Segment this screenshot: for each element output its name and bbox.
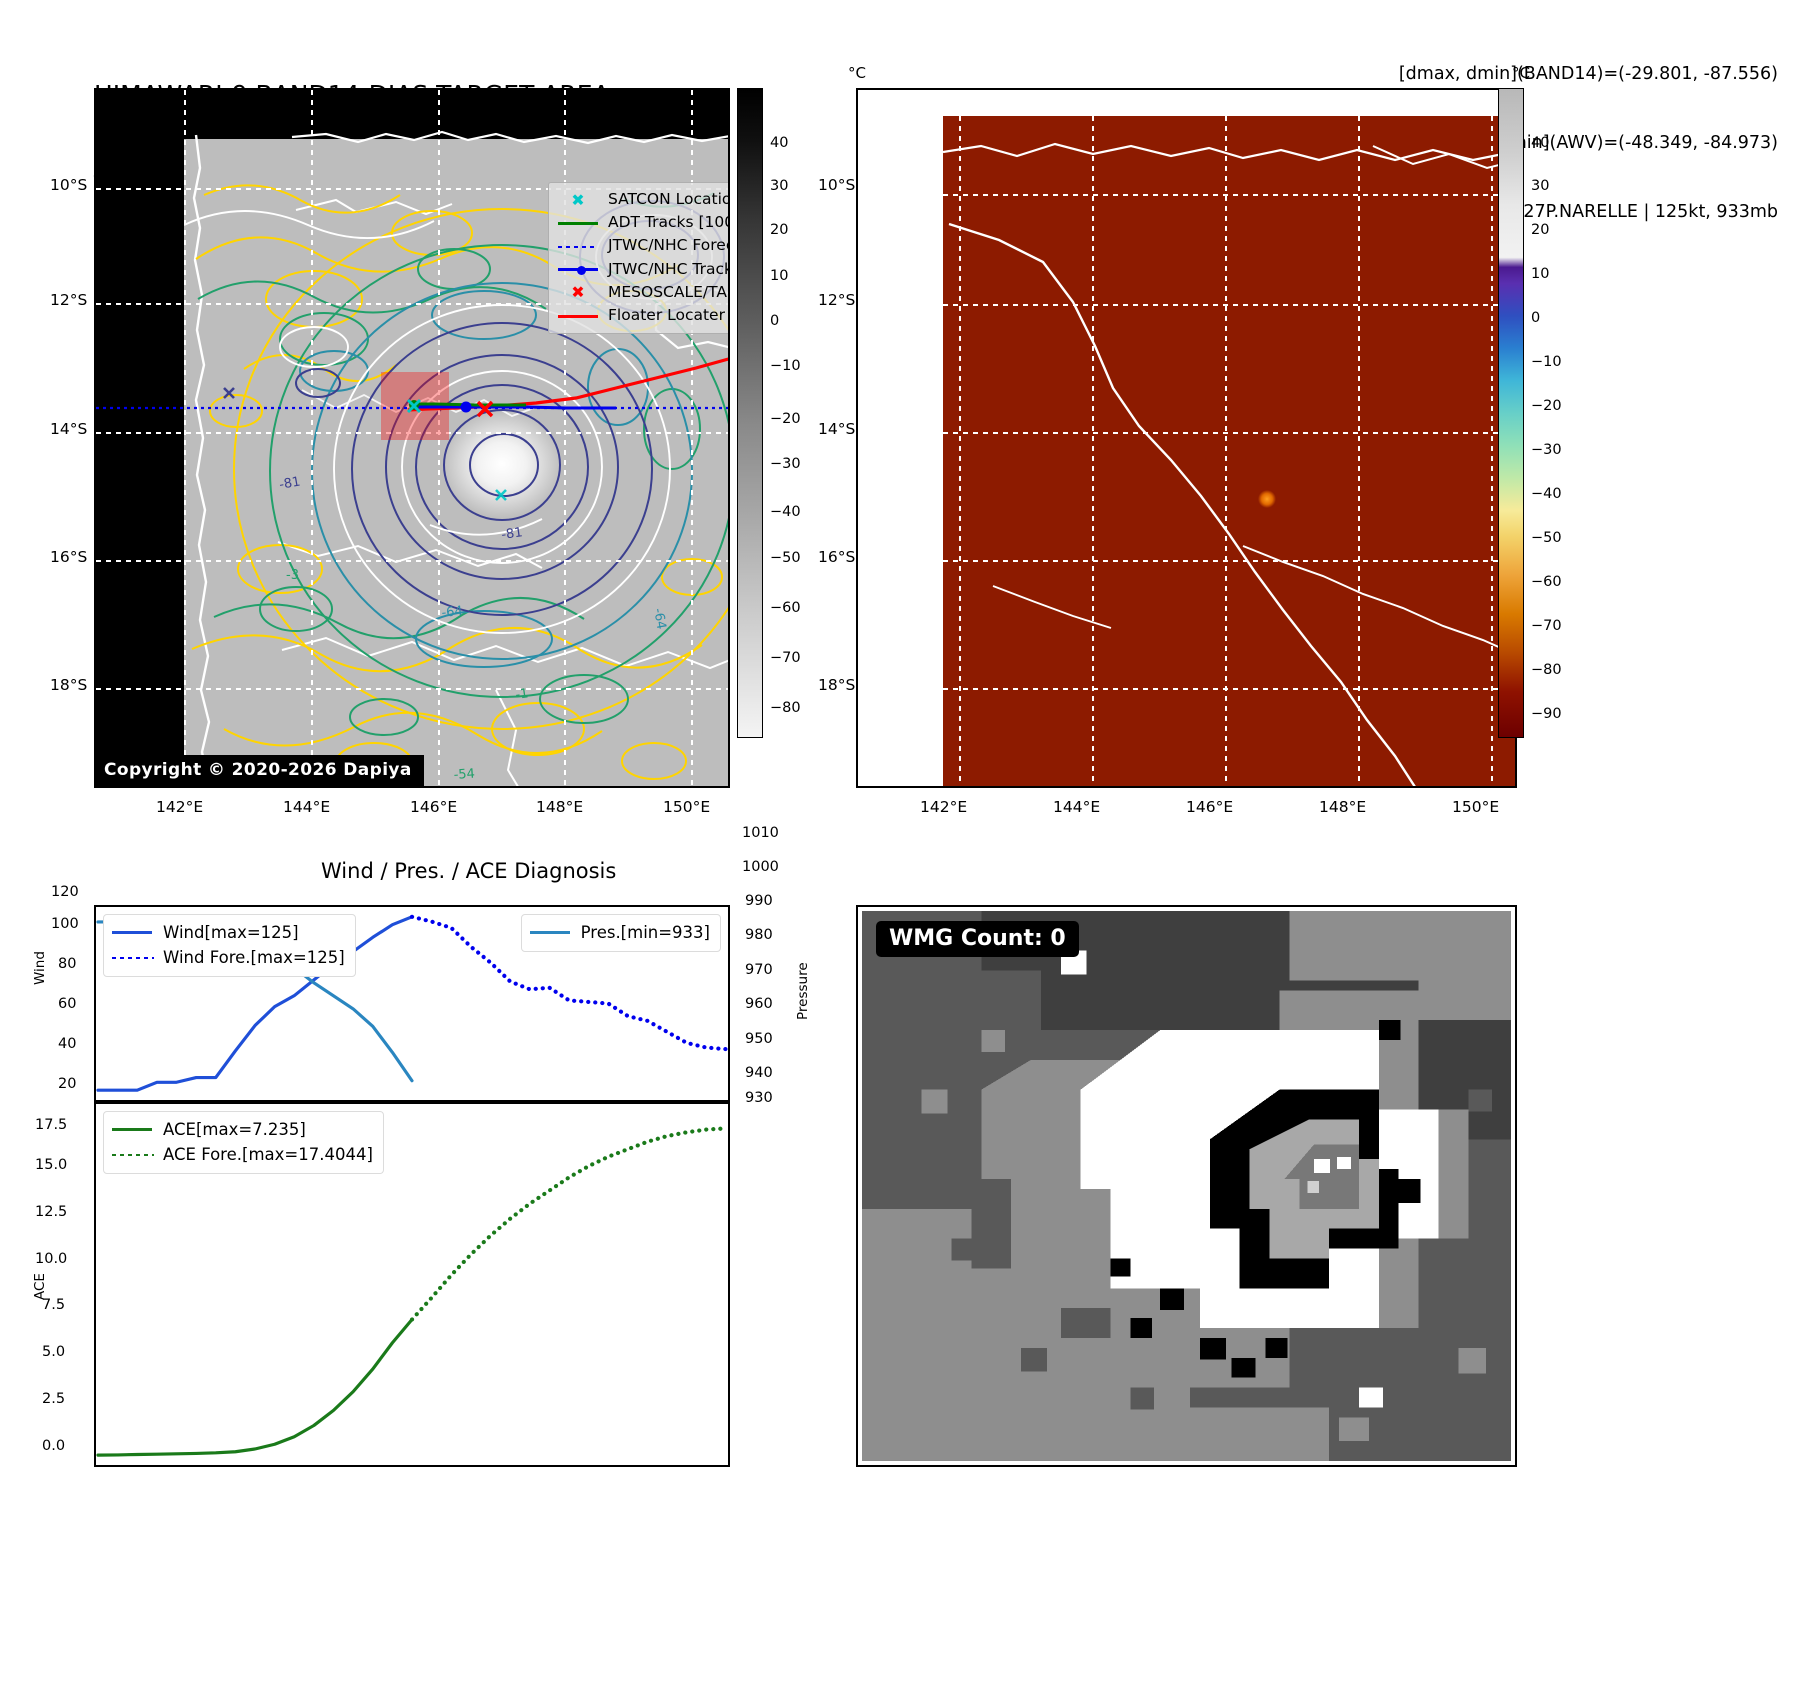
ir-cbtick-10: 10: [770, 268, 788, 284]
dashboard-root: HIMAWARI-9 BAND14-DIAS TARGET AREA Time:…: [0, 0, 1801, 1690]
wind-legend[interactable]: Wind[max=125] Wind Fore.[max=125]: [103, 914, 356, 977]
ir-xtick-142e: 142°E: [156, 798, 203, 816]
legend-item-pressure[interactable]: Pres.[min=933]: [529, 920, 710, 945]
wind-ytick-40: 40: [58, 1036, 76, 1052]
awv-xtick-150e: 150°E: [1452, 798, 1499, 816]
dotted-line-icon: [111, 948, 155, 968]
pres-ytick-970: 970: [745, 962, 773, 978]
awv-cbtick-m20: −20: [1531, 398, 1562, 414]
ace-ytick-5: 5.0: [42, 1344, 65, 1360]
solid-line-icon: [111, 923, 155, 943]
awv-cbtick-m50: −50: [1531, 530, 1562, 546]
awv-gridline-lon-148e: [1358, 116, 1360, 786]
ir-xtick-148e: 148°E: [536, 798, 583, 816]
ace-ytick-7p5: 7.5: [42, 1297, 65, 1313]
ir-xtick-146e: 146°E: [410, 798, 457, 816]
legend-label: SATCON Locations [0530Z 140 928]: [608, 188, 730, 211]
x-marker-icon: ✖: [557, 190, 599, 210]
awv-cbtick-20: 20: [1531, 222, 1549, 238]
dotted-line-icon: [557, 236, 599, 256]
ir-ytick-12s: 12°S: [50, 291, 87, 309]
ir-colorbar: [737, 88, 763, 738]
awv-gridline-lat-10s: [943, 194, 1515, 196]
ir-cbtick-0: 0: [770, 313, 779, 329]
ir-panel-legend[interactable]: ✖ SATCON Locations [0530Z 140 928] ADT T…: [548, 182, 730, 334]
wind-ytick-60: 60: [58, 996, 76, 1012]
ace-legend[interactable]: ACE[max=7.235] ACE Fore.[max=17.4044]: [103, 1111, 384, 1174]
ace-ytick-17p5: 17.5: [35, 1117, 67, 1133]
wmg-panel[interactable]: WMG Count: 0: [856, 905, 1517, 1467]
pres-ytick-960: 960: [745, 996, 773, 1012]
ir-cbtick-30: 30: [770, 178, 788, 194]
floater-locater-line: [408, 358, 730, 410]
legend-item-wind[interactable]: Wind[max=125]: [111, 920, 345, 945]
wind-ytick-80: 80: [58, 956, 76, 972]
awv-cbtick-m30: −30: [1531, 442, 1562, 458]
awv-gridline-lon-150e: [1491, 116, 1493, 786]
legend-label: Floater Locater: [608, 304, 725, 327]
legend-item-satcon[interactable]: ✖ SATCON Locations [0530Z 140 928]: [557, 188, 730, 211]
awv-gridline-lat-18s: [943, 688, 1515, 690]
legend-label: ACE Fore.[max=17.4044]: [163, 1142, 373, 1167]
pres-ytick-990: 990: [745, 893, 773, 909]
wmg-imagery: [862, 911, 1511, 1461]
legend-item-ace-forecast[interactable]: ACE Fore.[max=17.4044]: [111, 1142, 373, 1167]
legend-label: Wind[max=125]: [163, 920, 299, 945]
ir-xtick-150e: 150°E: [663, 798, 710, 816]
wmg-pixel-map: [862, 911, 1511, 1461]
ir-ytick-16s: 16°S: [50, 548, 87, 566]
awv-ytick-16s: 16°S: [818, 548, 855, 566]
awv-xtick-142e: 142°E: [920, 798, 967, 816]
solid-line-icon: [529, 923, 573, 943]
legend-item-ace[interactable]: ACE[max=7.235]: [111, 1117, 373, 1142]
jtwc-track-line: [416, 407, 616, 408]
legend-item-mesoscale[interactable]: ✖ MESOSCALE/TARGET Location: [557, 281, 730, 304]
legend-label: JTWC/NHC Tracks [19/0600Z]: [608, 258, 730, 281]
awv-gridline-lon-146e: [1225, 116, 1227, 786]
ir-cbtick-m30: −30: [770, 456, 801, 472]
aux-marker: [224, 388, 234, 398]
ir-cbtick-m70: −70: [770, 650, 801, 666]
ir-cbtick-m10: −10: [770, 358, 801, 374]
satcon-location-marker-2: [496, 490, 506, 500]
x-marker-icon: ✖: [557, 282, 599, 302]
awv-gridline-lon-144e: [1092, 116, 1094, 786]
ir-colorbar-unit: °C: [848, 64, 866, 82]
wmg-count-badge: WMG Count: 0: [876, 921, 1079, 957]
solid-line-icon: [557, 213, 599, 233]
awv-cbtick-0: 0: [1531, 310, 1540, 326]
ir-ytick-18s: 18°S: [50, 676, 87, 694]
pressure-axis-label: Pressure: [795, 962, 811, 1020]
pres-ytick-1000: 1000: [742, 859, 779, 875]
wind-ytick-100: 100: [51, 916, 79, 932]
ir-cbtick-20: 20: [770, 222, 788, 238]
ir-xtick-144e: 144°E: [283, 798, 330, 816]
ace-ytick-12p5: 12.5: [35, 1204, 67, 1220]
ir-cbtick-m40: −40: [770, 504, 801, 520]
ace-ytick-0: 0.0: [42, 1438, 65, 1454]
pres-ytick-1010: 1010: [742, 825, 779, 841]
awv-cbtick-m60: −60: [1531, 574, 1562, 590]
awv-xtick-144e: 144°E: [1053, 798, 1100, 816]
solid-line-icon: [111, 1120, 155, 1140]
dmax-dmin-band14: [dmax, dmin](BAND14)=(-29.801, -87.556): [1399, 63, 1778, 86]
legend-item-jtwc-tracks[interactable]: JTWC/NHC Tracks [19/0600Z]: [557, 258, 730, 281]
ace-chart[interactable]: ACE[max=7.235] ACE Fore.[max=17.4044]: [94, 1102, 730, 1467]
ace-axis-label: ACE: [32, 1273, 48, 1300]
awv-xtick-148e: 148°E: [1319, 798, 1366, 816]
pressure-legend[interactable]: Pres.[min=933]: [521, 914, 721, 952]
awv-ytick-10s: 10°S: [818, 176, 855, 194]
awv-cbtick-m10: −10: [1531, 354, 1562, 370]
awv-cbtick-10: 10: [1531, 266, 1549, 282]
awv-panel[interactable]: [856, 88, 1517, 788]
line-with-dot-icon: [557, 259, 599, 279]
legend-label: ADT Tracks [1000Z 137.4 922.2]: [608, 211, 730, 234]
legend-item-jtwc-forecast[interactable]: JTWC/NHC Forecast [19/0600Z]: [557, 234, 730, 257]
ir-cbtick-m60: −60: [770, 600, 801, 616]
ir-ytick-10s: 10°S: [50, 176, 87, 194]
legend-item-floater[interactable]: Floater Locater: [557, 304, 730, 327]
awv-ytick-12s: 12°S: [818, 291, 855, 309]
legend-label: JTWC/NHC Forecast [19/0600Z]: [608, 234, 730, 257]
ace-ytick-2p5: 2.5: [42, 1391, 65, 1407]
legend-label: MESOSCALE/TARGET Location: [608, 281, 730, 304]
awv-cbtick-m70: −70: [1531, 618, 1562, 634]
ir-target-area-panel[interactable]: -81 -81 -64 -64 -3 -1 -54 -42: [94, 88, 730, 788]
wind-axis-label: Wind: [32, 951, 48, 985]
dotted-line-icon: [111, 1145, 155, 1165]
pres-ytick-980: 980: [745, 927, 773, 943]
awv-cbtick-m90: −90: [1531, 706, 1562, 722]
wind-pressure-chart[interactable]: Wind[max=125] Wind Fore.[max=125] Pres.[…: [94, 905, 730, 1102]
awv-cbtick-30: 30: [1531, 178, 1549, 194]
awv-cbtick-m40: −40: [1531, 486, 1562, 502]
awv-gridline-lat-16s: [943, 560, 1515, 562]
copyright-label: Copyright © 2020-2026 Dapiya: [96, 755, 424, 786]
legend-label: ACE[max=7.235]: [163, 1117, 306, 1142]
ir-cbtick-m80: −80: [770, 700, 801, 716]
awv-colorbar: [1498, 88, 1524, 738]
ir-cbtick-m50: −50: [770, 550, 801, 566]
pres-ytick-930: 930: [745, 1090, 773, 1106]
legend-label: Wind Fore.[max=125]: [163, 945, 345, 970]
awv-cbtick-m80: −80: [1531, 662, 1562, 678]
awv-ytick-18s: 18°S: [818, 676, 855, 694]
awv-gridline-lat-12s: [943, 304, 1515, 306]
legend-item-wind-forecast[interactable]: Wind Fore.[max=125]: [111, 945, 345, 970]
wind-ytick-120: 120: [51, 884, 79, 900]
pres-ytick-950: 950: [745, 1031, 773, 1047]
wind-ytick-20: 20: [58, 1076, 76, 1092]
ir-ytick-14s: 14°S: [50, 420, 87, 438]
awv-cbtick-40: 40: [1531, 135, 1549, 151]
awv-xtick-146e: 146°E: [1186, 798, 1233, 816]
awv-ytick-14s: 14°S: [818, 420, 855, 438]
ir-cbtick-m20: −20: [770, 411, 801, 427]
ace-ytick-10: 10.0: [35, 1251, 67, 1267]
ir-cbtick-40: 40: [770, 135, 788, 151]
ace-ytick-15: 15.0: [35, 1157, 67, 1173]
diagnosis-chart-title: Wind / Pres. / ACE Diagnosis: [321, 859, 616, 883]
awv-colorbar-unit: °C: [1512, 64, 1530, 82]
jtwc-track-point: [461, 402, 472, 413]
awv-gridline-lon-142e: [959, 116, 961, 786]
legend-label: Pres.[min=933]: [581, 920, 710, 945]
legend-item-adt[interactable]: ADT Tracks [1000Z 137.4 922.2]: [557, 211, 730, 234]
solid-line-icon: [557, 306, 599, 326]
pres-ytick-940: 940: [745, 1065, 773, 1081]
awv-gridline-lat-14s: [943, 432, 1515, 434]
